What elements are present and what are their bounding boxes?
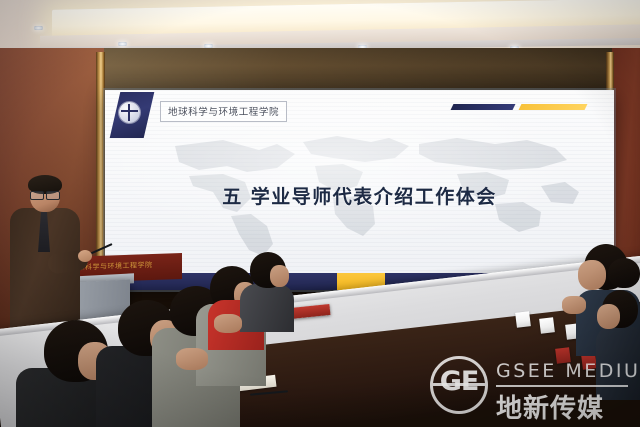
attendee-hand (214, 314, 242, 333)
attendee-face (578, 260, 606, 290)
presentation-photo: 地球科学与环境工程学院 五 学业导师代表介绍工作体会 地球科学与环境工程学院 (0, 0, 640, 427)
slide-title: 五 学业导师代表介绍工作体会 (105, 182, 614, 209)
slide-header-label: 地球科学与环境工程学院 (168, 104, 279, 118)
attendee-phone-hand (562, 296, 592, 318)
attendee-hand (562, 296, 586, 314)
attendee-hand-writing (176, 344, 222, 378)
recessed-downlight-icon (34, 26, 43, 30)
watermark-english-label: GSEE MEDIUM (496, 360, 640, 382)
recessed-downlight-icon (118, 42, 127, 46)
attendee-face (270, 265, 289, 287)
watermark: GE GSEE MEDIUM 地新传媒 (430, 352, 630, 418)
name-card-tent (539, 317, 555, 334)
attendee-hand-writing (214, 312, 254, 340)
gold-accent-bar-icon (519, 104, 588, 110)
navy-accent-bar-icon (451, 104, 516, 110)
name-card-tent (515, 311, 531, 328)
watermark-chinese-label: 地新传媒 (496, 388, 604, 425)
slide-header-box: 地球科学与环境工程学院 (160, 101, 287, 122)
wall-back-sheen (104, 48, 614, 92)
university-emblem-icon (119, 102, 140, 123)
watermark-monogram: GE (434, 366, 484, 398)
attendee-hand (176, 348, 208, 370)
attendee-far-right (604, 258, 640, 308)
eyeglasses-icon (30, 191, 60, 198)
attendee-head (608, 258, 640, 288)
presenter-hand (78, 250, 92, 262)
watermark-divider (496, 385, 628, 387)
